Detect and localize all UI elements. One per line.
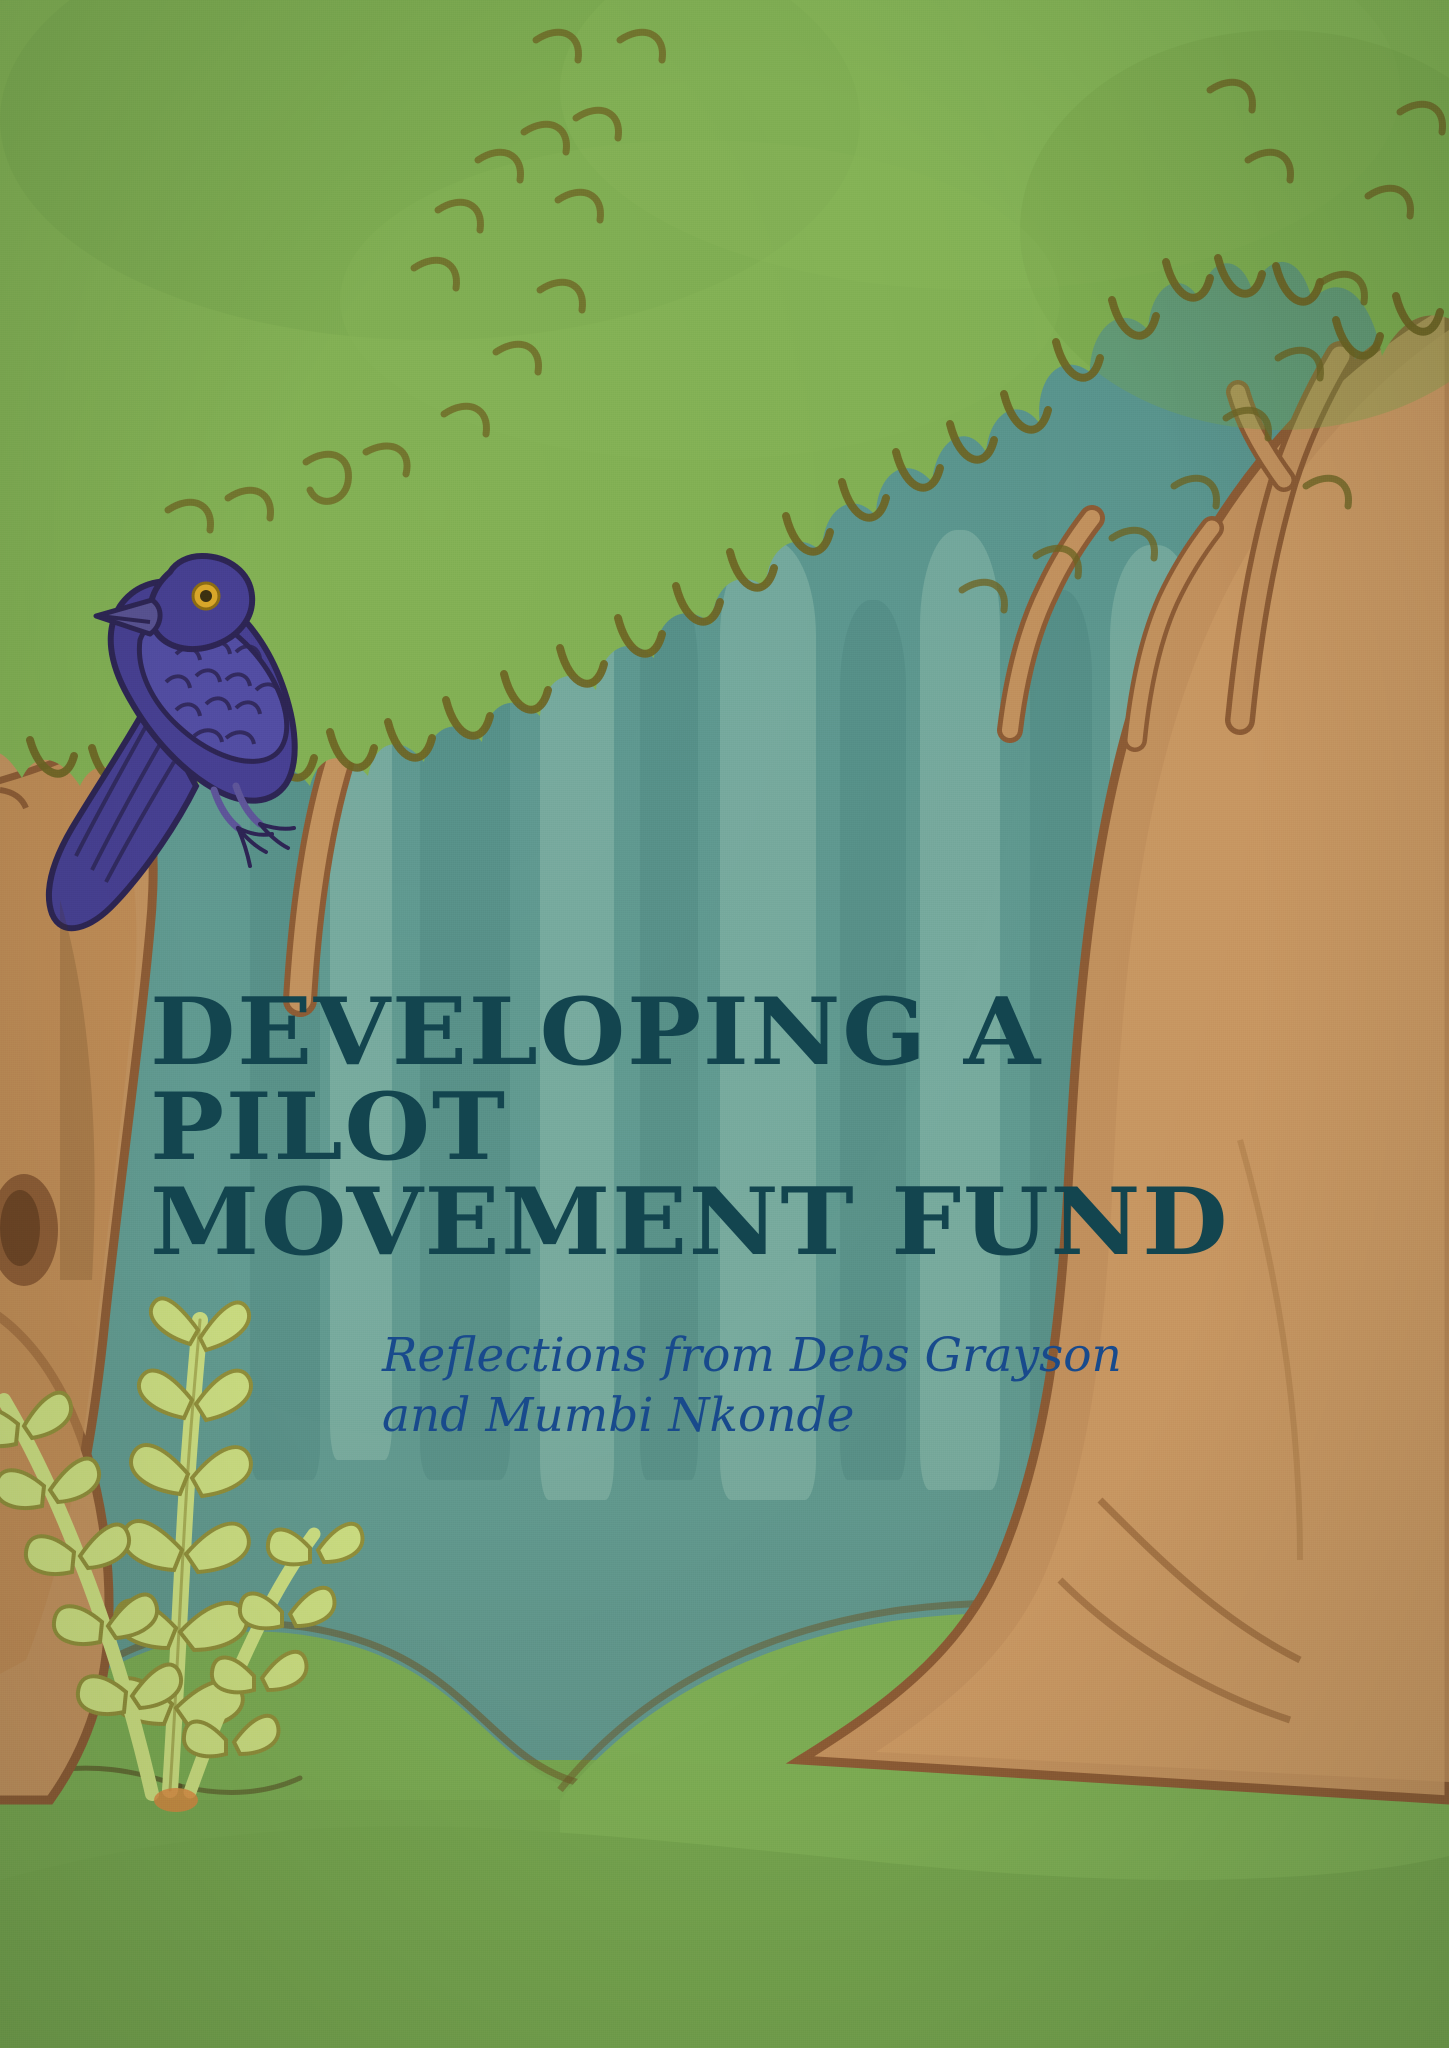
cover-subtitle: Reflections from Debs Grayson and Mumbi … [150,1270,1330,1446]
cover-title: DEVELOPING A PILOT MOVEMENT FUND [150,985,1401,1270]
cover-text-block: DEVELOPING A PILOT MOVEMENT FUND Reflect… [150,985,1330,1446]
book-cover: DEVELOPING A PILOT MOVEMENT FUND Reflect… [0,0,1449,2048]
